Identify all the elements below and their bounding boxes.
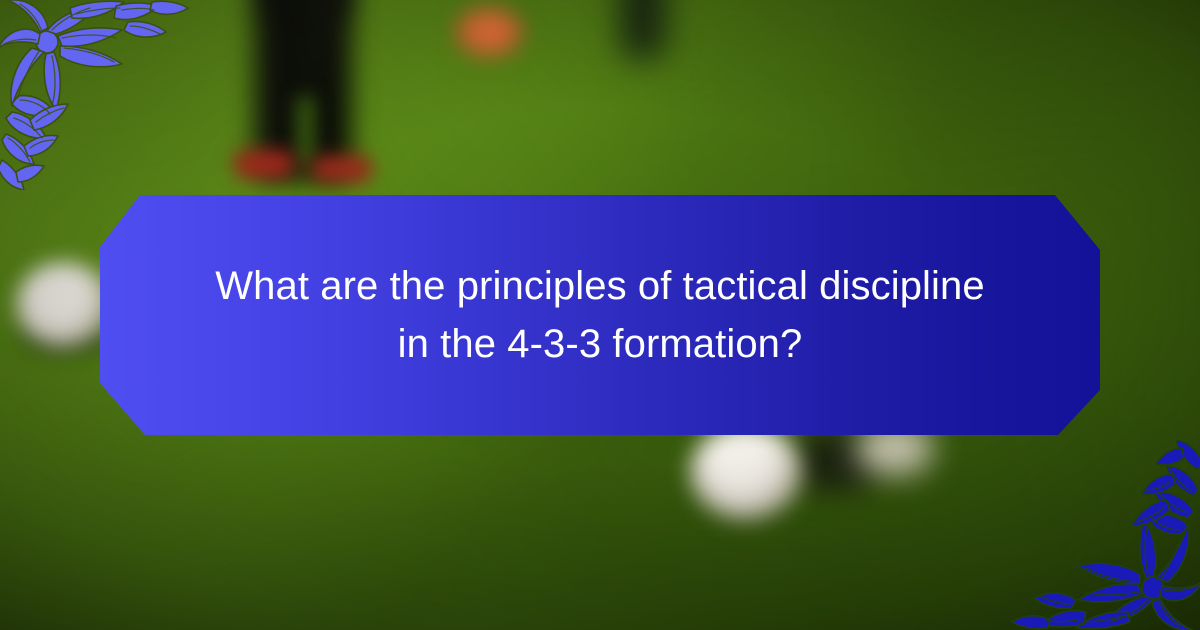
social-card: What are the principles of tactical disc… [0,0,1200,630]
headline-banner: What are the principles of tactical disc… [100,195,1100,435]
headline-text: What are the principles of tactical disc… [140,257,1060,374]
